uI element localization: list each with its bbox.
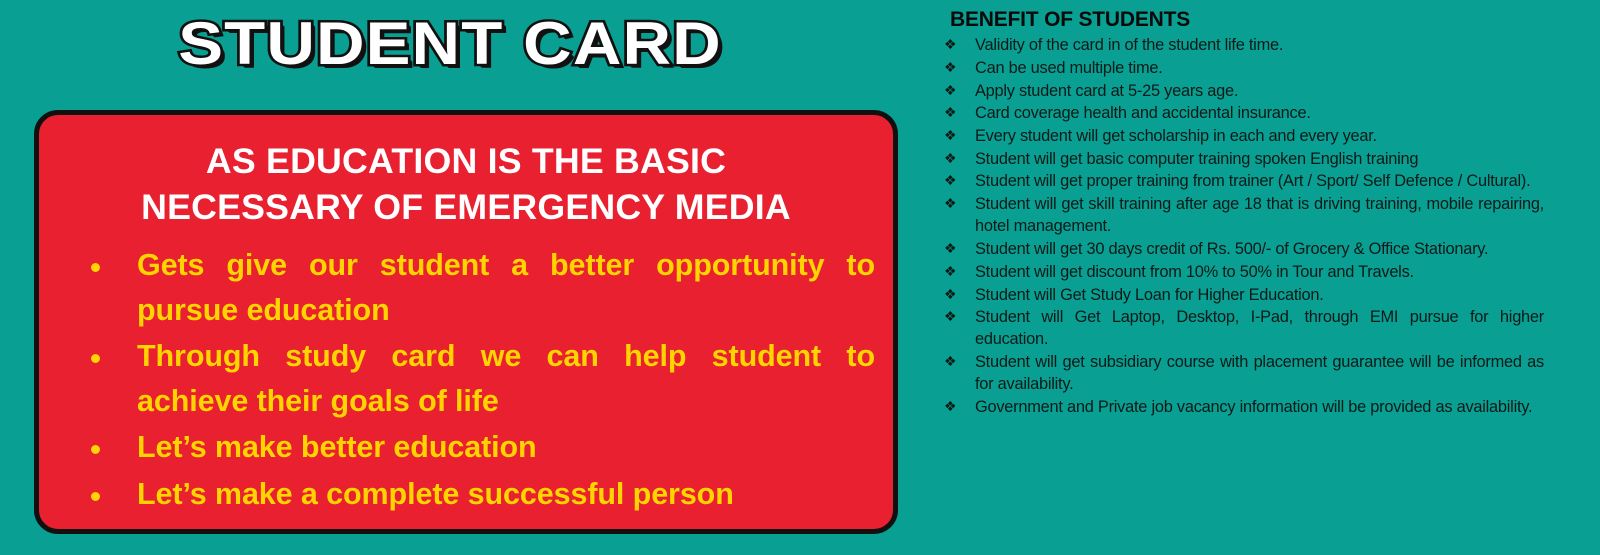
left-panel: STUDENT CARD AS EDUCATION IS THE BASIC N… [0,0,930,555]
benefits-heading: BENEFIT OF STUDENTS [950,8,1544,31]
list-item: ❖ Student will get 30 days credit of Rs.… [944,238,1544,260]
benefit-text: Student will Get Laptop, Desktop, I-Pad,… [975,308,1544,348]
card-headline-line-1: AS EDUCATION IS THE BASIC [57,139,875,185]
list-item: Let’s make better education [61,425,875,470]
benefit-text: Student will get 30 days credit of Rs. 5… [975,240,1488,258]
fleuron-diamond-icon: ❖ [944,306,956,328]
fleuron-diamond-icon: ❖ [944,193,956,215]
benefit-text: Student will get proper training from tr… [975,172,1530,190]
benefit-text: Can be used multiple time. [975,59,1163,77]
card-headline: AS EDUCATION IS THE BASIC NECESSARY OF E… [30,115,901,231]
fleuron-diamond-icon: ❖ [944,34,956,56]
fleuron-diamond-icon: ❖ [944,57,956,79]
card-bullet-text: Let’s make better education [137,430,537,464]
benefit-text: Government and Private job vacancy infor… [975,398,1532,416]
list-item: ❖ Student will get subsidiary course wit… [944,351,1544,395]
benefit-text: Student will get basic computer training… [975,150,1418,168]
list-item: ❖ Student will get discount from 10% to … [944,261,1544,283]
list-item: Gets give our student a better opportuni… [61,243,875,332]
list-item: ❖ Student will get skill training after … [944,193,1544,237]
page-title: STUDENT CARD [0,14,954,74]
card-bullet-list: Gets give our student a better opportuni… [39,243,893,516]
fleuron-diamond-icon: ❖ [944,351,956,373]
benefits-list: ❖ Validity of the card in of the student… [944,34,1544,418]
benefit-text: Card coverage health and accidental insu… [975,104,1311,122]
card-bullet-text: Gets give our student a better opportuni… [137,248,875,327]
list-item: ❖ Card coverage health and accidental in… [944,102,1544,124]
card-bullet-text: Let’s make a complete successful person [137,477,734,511]
list-item: ❖ Student will Get Study Loan for Higher… [944,284,1544,306]
list-item: ❖ Student will get basic computer traini… [944,148,1544,170]
card-bullet-text: Through study card we can help student t… [137,339,875,418]
benefit-text: Validity of the card in of the student l… [975,36,1283,54]
list-item: ❖ Student will get proper training from … [944,170,1544,192]
fleuron-diamond-icon: ❖ [944,396,956,418]
fleuron-diamond-icon: ❖ [944,102,956,124]
benefit-text: Every student will get scholarship in ea… [975,127,1377,145]
list-item: Let’s make a complete successful person [61,472,875,517]
list-item: ❖ Apply student card at 5-25 years age. [944,80,1544,102]
fleuron-diamond-icon: ❖ [944,80,956,102]
benefit-text: Student will Get Study Loan for Higher E… [975,286,1324,304]
fleuron-diamond-icon: ❖ [944,125,956,147]
list-item: ❖ Validity of the card in of the student… [944,34,1544,56]
fleuron-diamond-icon: ❖ [944,148,956,170]
list-item: ❖ Every student will get scholarship in … [944,125,1544,147]
card-headline-line-2: NECESSARY OF EMERGENCY MEDIA [57,185,875,231]
benefit-text: Student will get subsidiary course with … [975,353,1544,393]
list-item: Through study card we can help student t… [61,334,875,423]
benefits-panel: BENEFIT OF STUDENTS ❖ Validity of the ca… [944,8,1544,553]
highlight-card: AS EDUCATION IS THE BASIC NECESSARY OF E… [34,110,898,534]
list-item: ❖ Student will Get Laptop, Desktop, I-Pa… [944,306,1544,350]
benefit-text: Student will get skill training after ag… [975,195,1544,235]
fleuron-diamond-icon: ❖ [944,170,956,192]
benefit-text: Apply student card at 5-25 years age. [975,82,1238,100]
list-item: ❖ Can be used multiple time. [944,57,1544,79]
benefit-text: Student will get discount from 10% to 50… [975,263,1414,281]
fleuron-diamond-icon: ❖ [944,238,956,260]
list-item: ❖ Government and Private job vacancy inf… [944,396,1544,418]
poster-root: STUDENT CARD AS EDUCATION IS THE BASIC N… [0,0,1600,555]
fleuron-diamond-icon: ❖ [944,284,956,306]
fleuron-diamond-icon: ❖ [944,261,956,283]
